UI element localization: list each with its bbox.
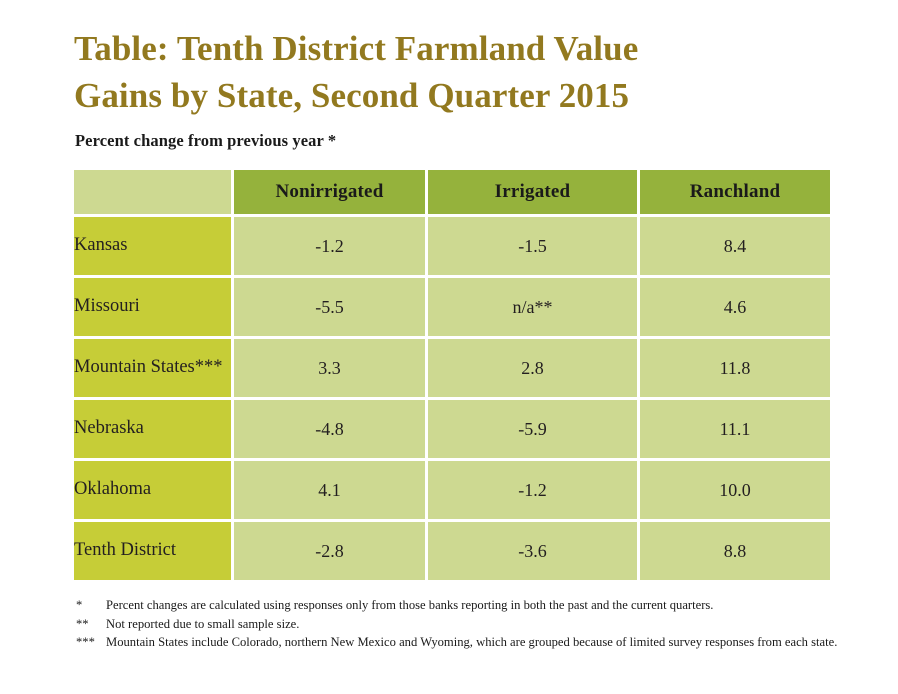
cell-ranchland: 11.1	[640, 400, 830, 461]
farmland-value-table: Nonirrigated Irrigated Ranchland Kansas …	[74, 170, 830, 580]
footnote-text: Percent changes are calculated using res…	[106, 596, 866, 615]
cell-ranchland: 11.8	[640, 339, 830, 400]
table-row: Tenth District -2.8 -3.6 8.8	[74, 522, 830, 580]
column-header-nonirrigated: Nonirrigated	[234, 170, 428, 217]
column-header-state	[74, 170, 234, 217]
cell-ranchland: 4.6	[640, 278, 830, 339]
subtitle: Percent change from previous year *	[75, 131, 336, 151]
cell-irrigated: 2.8	[428, 339, 640, 400]
cell-ranchland: 10.0	[640, 461, 830, 522]
footnote-marker: *	[76, 596, 106, 615]
cell-nonirrigated: 3.3	[234, 339, 428, 400]
cell-ranchland: 8.8	[640, 522, 830, 580]
slide-canvas: Table: Tenth District Farmland Value Gai…	[0, 0, 898, 694]
table-row: Kansas -1.2 -1.5 8.4	[74, 217, 830, 278]
cell-nonirrigated: -4.8	[234, 400, 428, 461]
footnotes: * Percent changes are calculated using r…	[76, 596, 866, 652]
cell-nonirrigated: 4.1	[234, 461, 428, 522]
column-header-ranchland: Ranchland	[640, 170, 830, 217]
cell-nonirrigated: -1.2	[234, 217, 428, 278]
table-header-row: Nonirrigated Irrigated Ranchland	[74, 170, 830, 217]
cell-nonirrigated: -5.5	[234, 278, 428, 339]
cell-irrigated: -3.6	[428, 522, 640, 580]
footnote-marker: **	[76, 615, 106, 634]
cell-irrigated: -1.2	[428, 461, 640, 522]
row-label: Kansas	[74, 217, 234, 278]
cell-ranchland: 8.4	[640, 217, 830, 278]
row-label: Tenth District	[74, 522, 234, 580]
data-table-container: Nonirrigated Irrigated Ranchland Kansas …	[74, 170, 830, 580]
row-label: Nebraska	[74, 400, 234, 461]
footnote-1: * Percent changes are calculated using r…	[76, 596, 866, 615]
table-row: Nebraska -4.8 -5.9 11.1	[74, 400, 830, 461]
footnote-text: Mountain States include Colorado, northe…	[106, 633, 866, 652]
page-title: Table: Tenth District Farmland Value Gai…	[74, 26, 834, 119]
cell-nonirrigated: -2.8	[234, 522, 428, 580]
row-label: Mountain States***	[74, 339, 234, 400]
footnote-2: ** Not reported due to small sample size…	[76, 615, 866, 634]
footnote-3: *** Mountain States include Colorado, no…	[76, 633, 866, 652]
column-header-irrigated: Irrigated	[428, 170, 640, 217]
table-row: Mountain States*** 3.3 2.8 11.8	[74, 339, 830, 400]
cell-irrigated: -5.9	[428, 400, 640, 461]
row-label: Oklahoma	[74, 461, 234, 522]
cell-irrigated: -1.5	[428, 217, 640, 278]
row-label: Missouri	[74, 278, 234, 339]
table-row: Oklahoma 4.1 -1.2 10.0	[74, 461, 830, 522]
footnote-text: Not reported due to small sample size.	[106, 615, 866, 634]
table-row: Missouri -5.5 n/a** 4.6	[74, 278, 830, 339]
footnote-marker: ***	[76, 633, 106, 652]
cell-irrigated: n/a**	[428, 278, 640, 339]
